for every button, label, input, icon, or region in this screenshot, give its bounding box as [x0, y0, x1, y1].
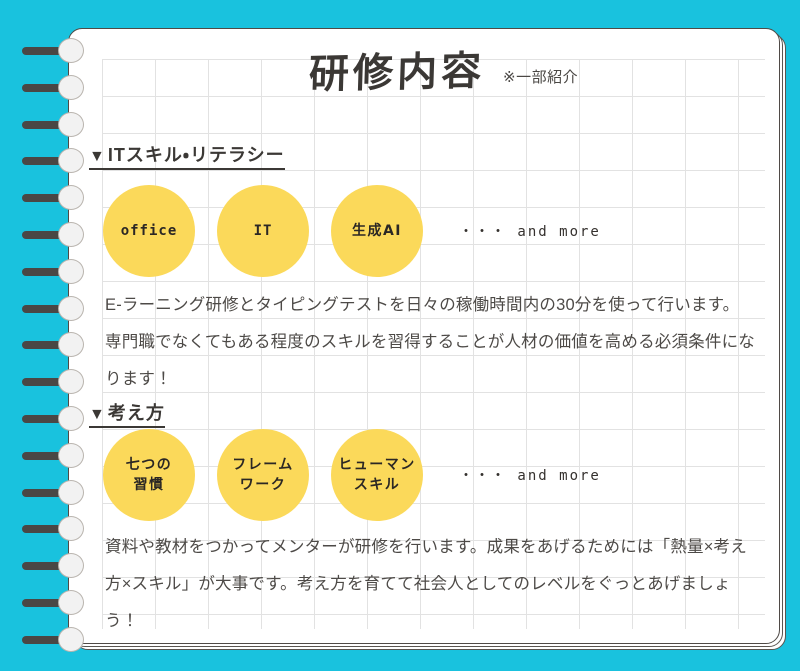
spiral-ring-loop [58, 148, 84, 173]
spiral-ring-loop [58, 480, 84, 505]
spiral-ring-loop [58, 296, 84, 321]
page-title: 研修内容 [308, 51, 485, 95]
spiral-ring-icon [22, 523, 84, 534]
spiral-ring-icon [22, 229, 84, 240]
section-body-it: E-ラーニング研修とタイピングテストを日々の稼働時間内の30分を使って行います。… [105, 287, 755, 398]
spiral-ring-icon [22, 339, 84, 350]
topic-bubble-it-line-1: IT [254, 221, 273, 241]
bubble-row-it: office IT 生成AI ・・・ and more [103, 185, 601, 277]
spiral-ring-loop [58, 185, 84, 210]
spiral-ring-icon [22, 597, 84, 608]
spiral-ring-loop [58, 369, 84, 394]
topic-bubble-generative-ai[interactable]: 生成AI [331, 185, 423, 277]
spiral-ring-icon [22, 487, 84, 498]
and-more-label-it: ・・・ and more [459, 221, 601, 241]
spiral-ring-loop [58, 112, 84, 137]
spiral-ring-icon [22, 634, 84, 645]
topic-bubble-it[interactable]: IT [217, 185, 309, 277]
topic-bubble-generative-ai-line-1: 生成AI [352, 221, 402, 241]
spiral-ring-icon [22, 450, 84, 461]
topic-bubble-human-skill-line-2: スキル [354, 475, 401, 495]
topic-bubble-framework[interactable]: フレーム ワーク [217, 429, 309, 521]
topic-bubble-framework-line-1: フレーム [232, 455, 294, 475]
notebook-page: 研修内容 ※一部紹介 ▼ITスキル・リテラシー office IT 生成AI ・… [68, 28, 780, 644]
spiral-ring-loop [58, 443, 84, 468]
spiral-ring-icon [22, 155, 84, 166]
spiral-ring-icon [22, 119, 84, 130]
spiral-ring-loop [58, 590, 84, 615]
topic-bubble-human-skill-line-1: ヒューマン [338, 455, 416, 475]
spiral-ring-loop [58, 627, 84, 652]
page-title-note: ※一部紹介 [503, 66, 578, 93]
topic-bubble-office-line-1: office [121, 221, 178, 241]
spiral-binding [0, 0, 120, 671]
spiral-ring-loop [58, 406, 84, 431]
page-content: 研修内容 ※一部紹介 ▼ITスキル・リテラシー office IT 生成AI ・… [69, 29, 780, 644]
spiral-ring-icon [22, 266, 84, 277]
topic-bubble-human-skill[interactable]: ヒューマン スキル [331, 429, 423, 521]
spiral-ring-loop [58, 38, 84, 63]
topic-bubble-seven-habits-line-2: 習慣 [134, 475, 165, 495]
spiral-ring-icon [22, 376, 84, 387]
section-heading-it-label: ITスキル・リテラシー [108, 145, 285, 165]
topic-bubble-seven-habits-line-1: 七つの [126, 455, 173, 475]
spiral-ring-loop [58, 516, 84, 541]
spiral-ring-icon [22, 413, 84, 424]
spiral-ring-loop [58, 553, 84, 578]
page-title-row: 研修内容 ※一部紹介 [309, 53, 578, 93]
spiral-ring-icon [22, 82, 84, 93]
spiral-ring-icon [22, 45, 84, 56]
spiral-ring-loop [58, 332, 84, 357]
section-body-idea: 資料や教材をつかってメンターが研修を行います。成果をあげるためには「熱量×考え方… [105, 529, 755, 640]
and-more-label-idea: ・・・ and more [459, 465, 601, 485]
topic-bubble-framework-line-2: ワーク [240, 475, 287, 495]
spiral-ring-icon [22, 303, 84, 314]
poster-canvas: 研修内容 ※一部紹介 ▼ITスキル・リテラシー office IT 生成AI ・… [0, 0, 800, 671]
spiral-ring-loop [58, 75, 84, 100]
spiral-ring-icon [22, 192, 84, 203]
bubble-row-idea: 七つの 習慣 フレーム ワーク ヒューマン スキル ・・・ and more [103, 429, 601, 521]
spiral-ring-icon [22, 560, 84, 571]
spiral-ring-loop [58, 259, 84, 284]
spiral-ring-loop [58, 222, 84, 247]
